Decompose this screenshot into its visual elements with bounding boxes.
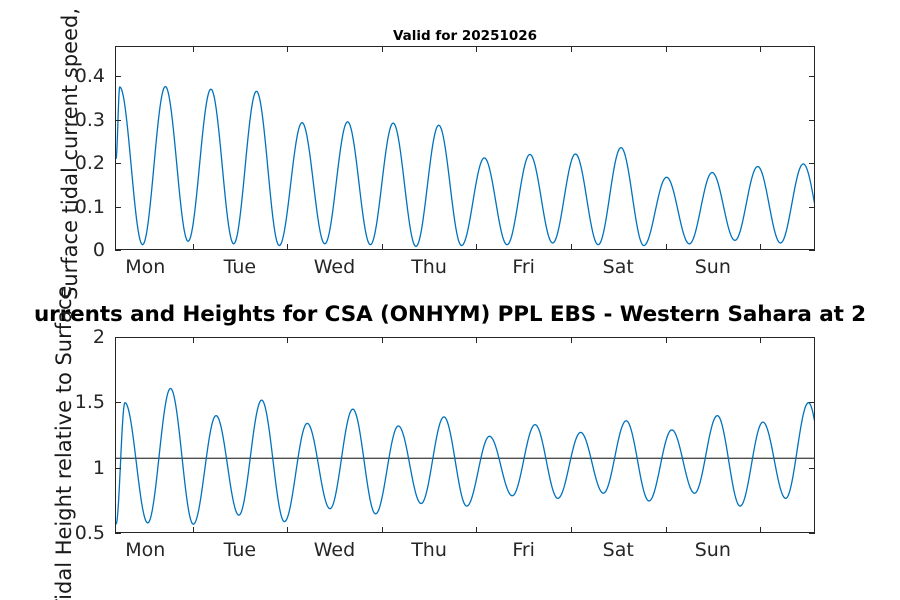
x-axis-tick-label: Fri: [512, 256, 535, 278]
y-axis-tick-label: 0: [93, 239, 105, 261]
bottom-chart-plot-area: [115, 337, 815, 533]
bottom-chart-y-axis-label: Tidal Height relative to Surface: [52, 286, 76, 600]
x-axis-tick-label: Sat: [603, 539, 634, 561]
x-axis-tick: [760, 527, 761, 533]
y-axis-tick-label: 0.1: [75, 196, 105, 218]
x-axis-tick: [476, 46, 477, 52]
y-axis-tick: [115, 207, 121, 208]
x-axis-tick: [571, 337, 572, 343]
y-axis-tick-label: 2: [93, 326, 105, 348]
y-axis-tick-label: 0.2: [75, 152, 105, 174]
x-axis-tick: [571, 527, 572, 533]
y-axis-tick-label: 1: [93, 457, 105, 479]
x-axis-tick: [666, 527, 667, 533]
x-axis-tick: [476, 337, 477, 343]
x-axis-tick: [193, 244, 194, 250]
x-axis-tick: [666, 244, 667, 250]
x-axis-tick-label: Thu: [411, 256, 447, 278]
y-axis-tick: [809, 207, 815, 208]
y-axis-tick: [115, 533, 121, 534]
x-axis-tick-label: Tue: [224, 256, 256, 278]
x-axis-tick: [382, 244, 383, 250]
x-axis-tick: [382, 46, 383, 52]
x-axis-tick-label: Sat: [603, 256, 634, 278]
top-chart-title: Valid for 20251026: [115, 28, 815, 44]
x-axis-tick: [193, 46, 194, 52]
x-axis-tick: [193, 527, 194, 533]
y-axis-tick: [809, 533, 815, 534]
y-axis-tick: [809, 402, 815, 403]
bottom-chart-line-series: [116, 338, 814, 532]
x-axis-tick: [287, 46, 288, 52]
y-axis-tick: [115, 402, 121, 403]
y-axis-tick-label: 0.5: [75, 522, 105, 544]
x-axis-tick-label: Tue: [224, 539, 256, 561]
y-axis-tick-label: 1.5: [75, 391, 105, 413]
x-axis-tick-label: Sun: [695, 256, 731, 278]
top-chart-y-axis-label: Surface tidal current speed, kn: [58, 0, 82, 300]
top-chart-line-series: [116, 47, 814, 249]
y-axis-tick: [809, 120, 815, 121]
y-axis-tick: [115, 76, 121, 77]
x-axis-tick: [476, 244, 477, 250]
x-axis-tick: [382, 337, 383, 343]
x-axis-tick: [476, 527, 477, 533]
figure-main-title: urrents and Heights for CSA (ONHYM) PPL …: [0, 302, 900, 327]
x-axis-tick-label: Wed: [314, 256, 355, 278]
x-axis-tick: [287, 244, 288, 250]
y-axis-tick: [809, 337, 815, 338]
y-axis-tick: [809, 163, 815, 164]
x-axis-tick-label: Thu: [411, 539, 447, 561]
x-axis-tick: [666, 337, 667, 343]
x-axis-tick-label: Mon: [125, 256, 165, 278]
x-axis-tick-label: Wed: [314, 539, 355, 561]
figure-canvas: urrents and Heights for CSA (ONHYM) PPL …: [0, 0, 900, 600]
x-axis-tick: [287, 337, 288, 343]
y-axis-tick: [115, 250, 121, 251]
y-axis-tick: [115, 468, 121, 469]
x-axis-tick: [571, 46, 572, 52]
x-axis-tick-label: Sun: [695, 539, 731, 561]
x-axis-tick: [760, 244, 761, 250]
y-axis-tick: [115, 163, 121, 164]
x-axis-tick: [382, 527, 383, 533]
x-axis-tick: [287, 527, 288, 533]
y-axis-tick: [115, 337, 121, 338]
x-axis-tick-label: Mon: [125, 539, 165, 561]
top-chart-plot-area: [115, 46, 815, 250]
x-axis-tick: [760, 46, 761, 52]
y-axis-tick-label: 0.3: [75, 109, 105, 131]
x-axis-tick: [571, 244, 572, 250]
y-axis-tick: [809, 76, 815, 77]
y-axis-tick: [115, 120, 121, 121]
y-axis-tick: [809, 250, 815, 251]
x-axis-tick: [666, 46, 667, 52]
y-axis-tick-label: 0.4: [75, 65, 105, 87]
x-axis-tick: [193, 337, 194, 343]
y-axis-tick: [809, 468, 815, 469]
x-axis-tick-label: Fri: [512, 539, 535, 561]
x-axis-tick: [760, 337, 761, 343]
